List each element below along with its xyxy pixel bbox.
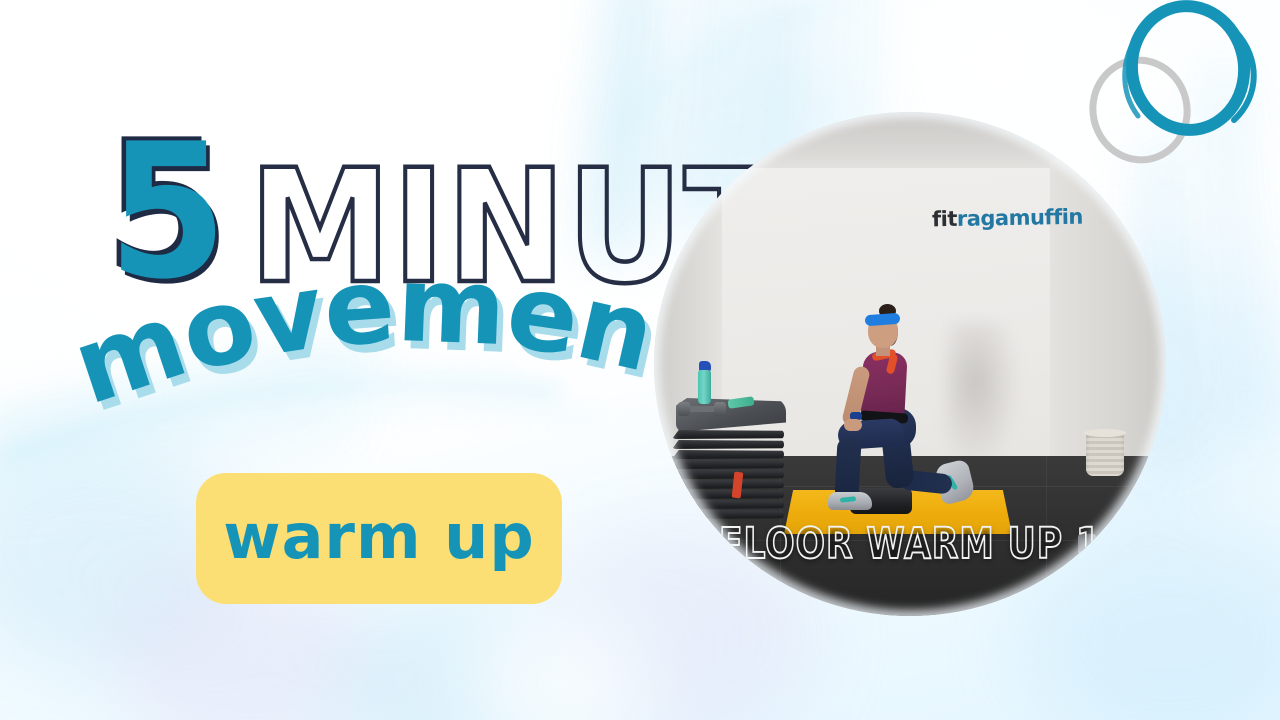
- torso-tank-top: [860, 351, 907, 419]
- warm-up-badge: warm up: [196, 473, 562, 604]
- wall-brand-text: fitragamuffin: [932, 205, 1083, 232]
- water-bottle: [698, 370, 711, 404]
- dumbbell: [678, 402, 726, 416]
- wall-brand-fit: fit: [932, 207, 957, 231]
- scene-ceiling: [654, 112, 1166, 174]
- photo-clip-mask: fitragamuffin: [654, 112, 1166, 616]
- photo-caption: FLOOR WARM UP 1: [664, 520, 1156, 568]
- wall-brand-ragamuffin: ragamuffin: [957, 205, 1083, 231]
- headline-number: 5: [108, 132, 223, 292]
- hand: [844, 419, 862, 431]
- aerobic-step-stack: [672, 398, 790, 526]
- woven-basket: [1086, 432, 1124, 476]
- photo-circle: fitragamuffin: [654, 112, 1166, 616]
- headline-movement-arc: movement movement: [84, 286, 684, 476]
- warm-up-label: warm up: [223, 506, 534, 568]
- woven-basket-rim: [1084, 429, 1126, 437]
- gym-scene: fitragamuffin: [654, 112, 1166, 616]
- thumbnail-canvas: 5 MINUTE movement movement warm up: [0, 0, 1280, 720]
- person-kneeling-lunge: [822, 304, 972, 516]
